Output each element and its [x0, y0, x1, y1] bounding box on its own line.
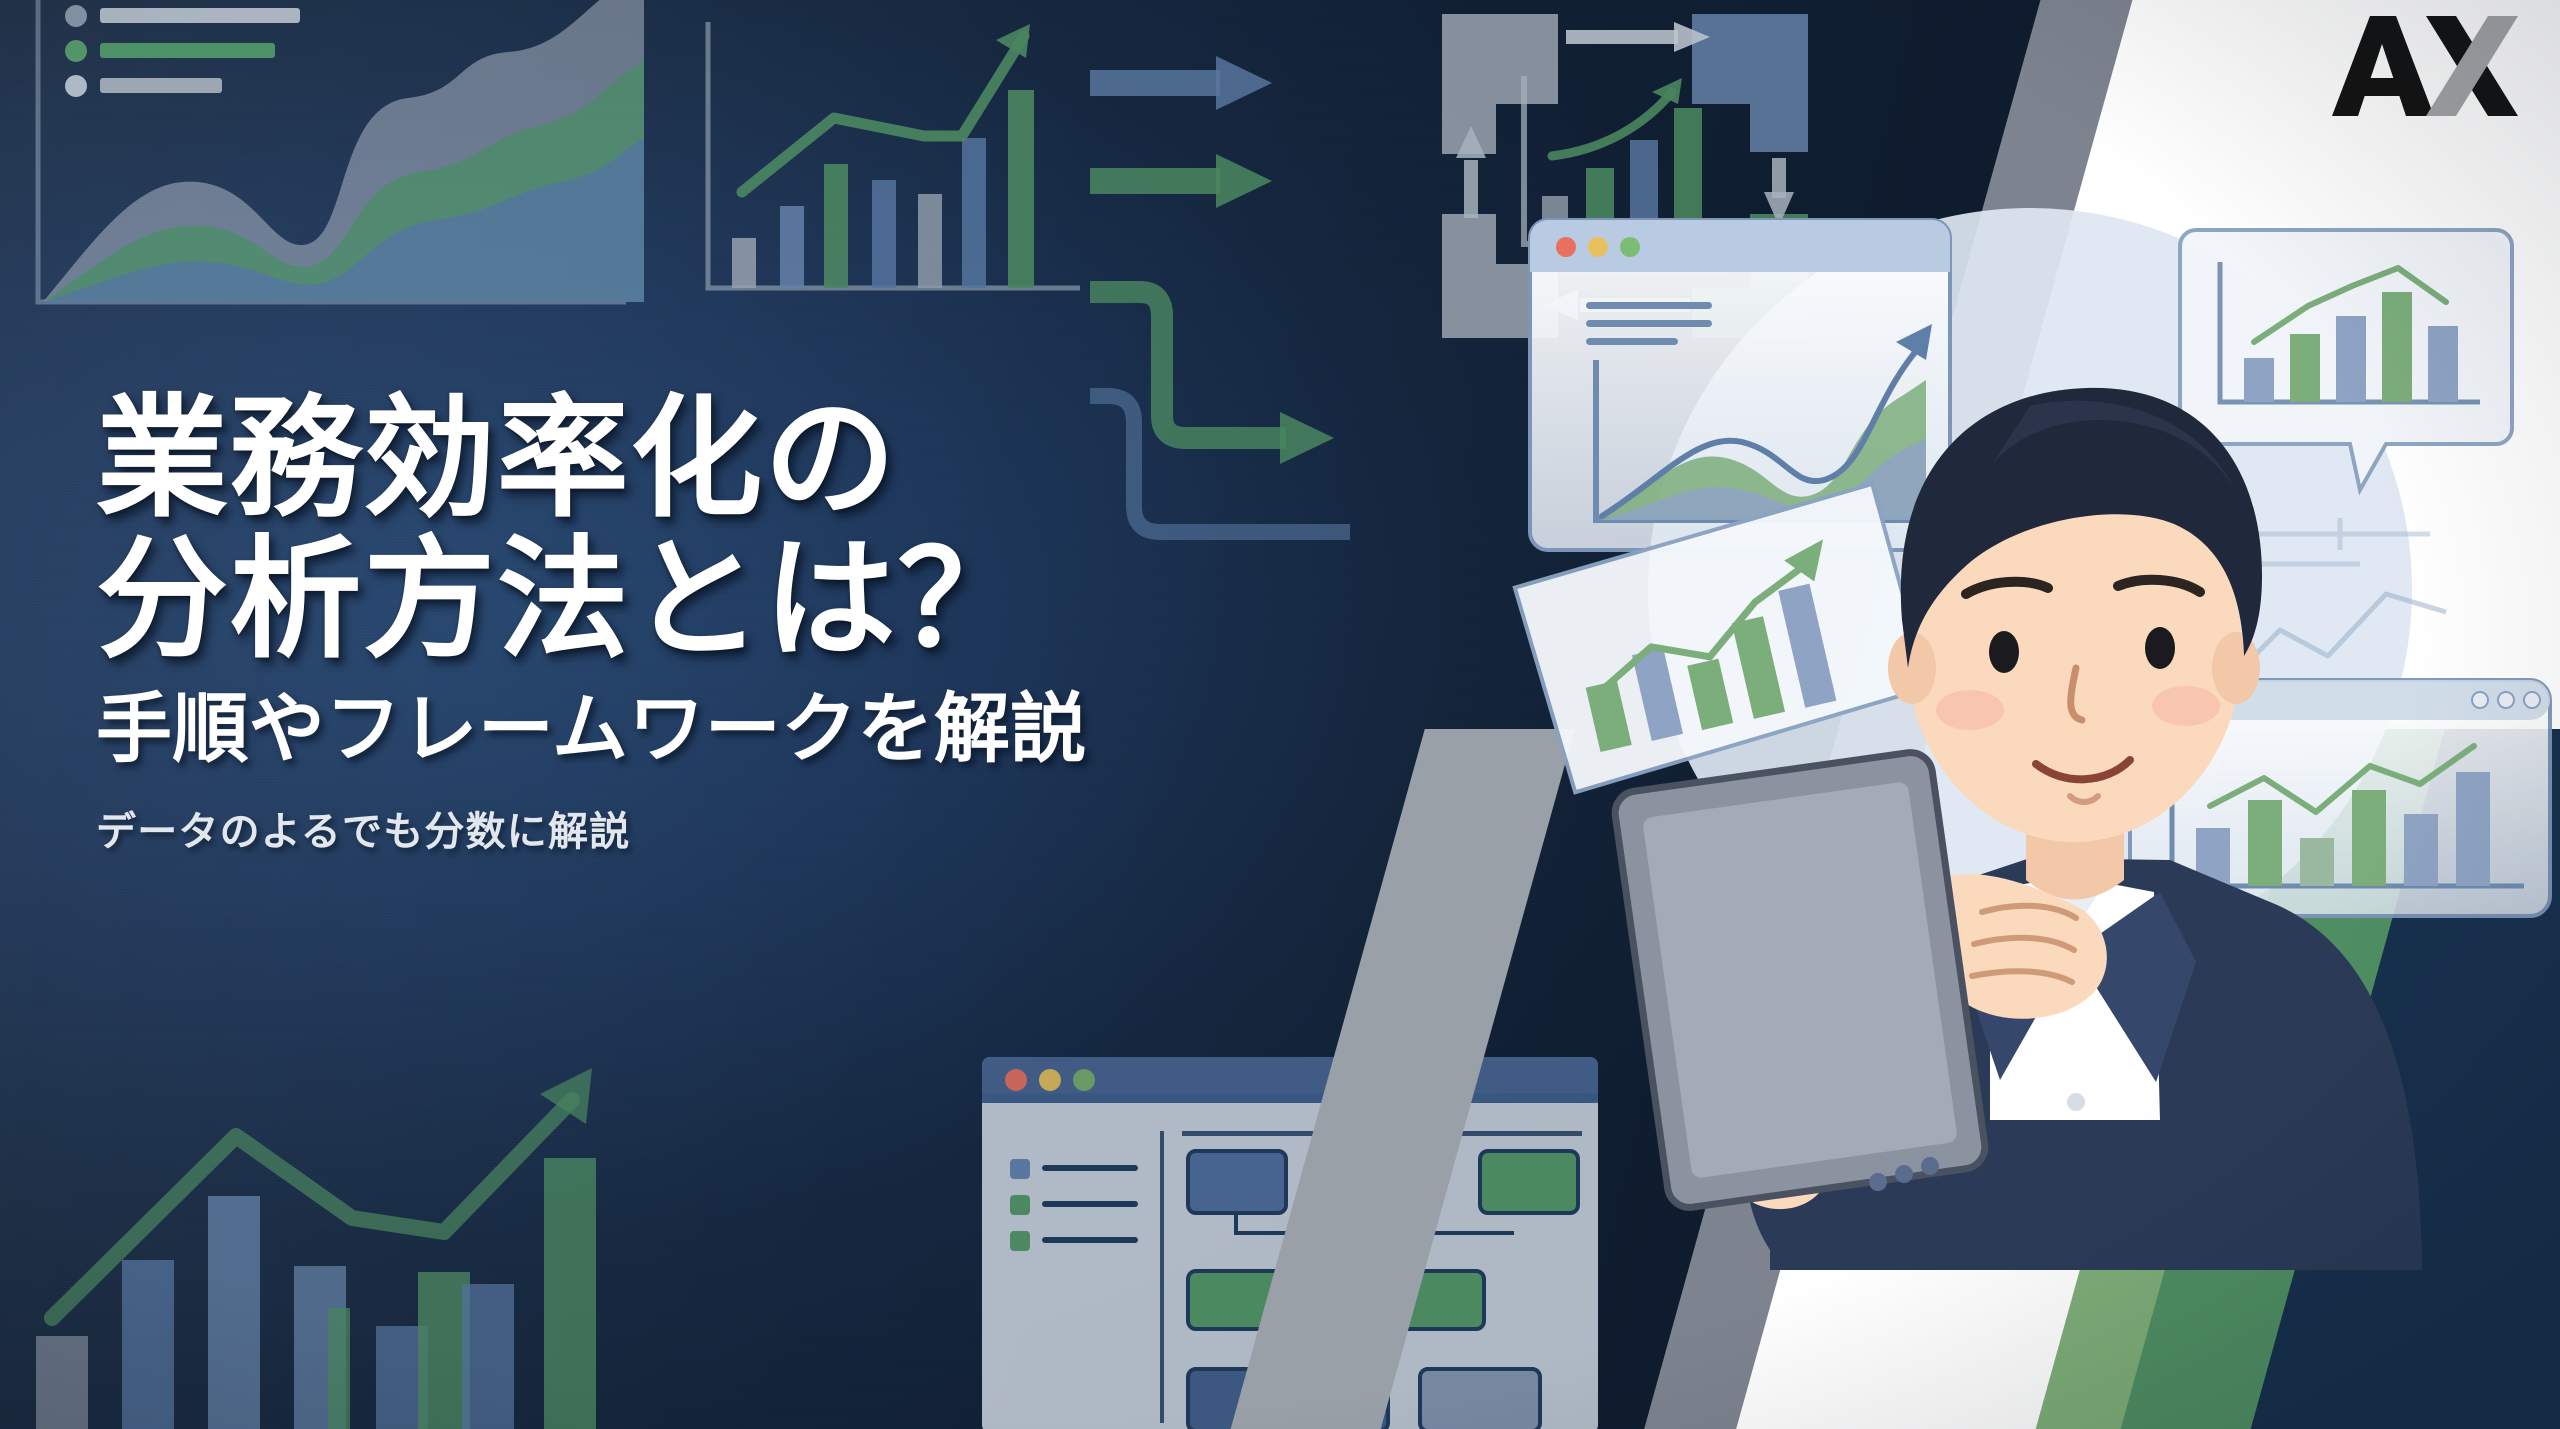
page-title-line2: 分析方法とは？	[96, 533, 1276, 668]
hero-banner: 業務効率化の 分析方法とは？ 手順やフレームワークを解説 データのよるでも分数に…	[0, 0, 2560, 1429]
page-subtitle: 手順やフレームワークを解説	[96, 687, 1276, 772]
page-caption: データのよるでも分数に解説	[96, 808, 1276, 856]
hero-text-block: 業務効率化の 分析方法とは？ 手順やフレームワークを解説 データのよるでも分数に…	[96, 392, 1276, 856]
page-title-line1: 業務効率化の	[96, 392, 1276, 527]
